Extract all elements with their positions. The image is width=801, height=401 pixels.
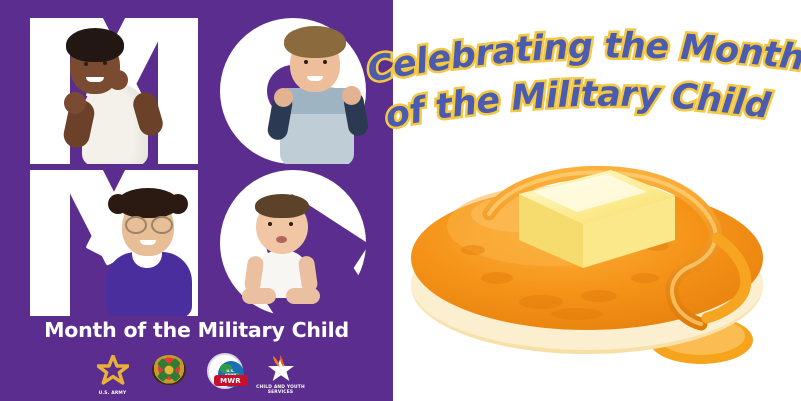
momc-letter-m-top — [30, 18, 198, 164]
star-icon — [97, 355, 129, 385]
swoosh-star-icon — [264, 354, 298, 384]
momc-logo — [30, 18, 370, 318]
child-photo-boy-white-tshirt — [48, 22, 180, 164]
globe-icon: U.S. ARMY MWR — [207, 353, 243, 389]
partner-logos: U.S. ARMY U. — [0, 352, 393, 396]
mwr-band-text: MWR — [220, 377, 241, 385]
momc-letter-o — [220, 18, 370, 164]
momc-pancake-banner: Month of the Military Child U.S. ARMY — [0, 0, 801, 401]
tagline: Month of the Military Child — [0, 318, 393, 342]
momc-row-bottom — [30, 170, 370, 316]
us-army-caption: U.S. ARMY — [83, 391, 143, 396]
pancake-svg — [401, 118, 801, 393]
momc-letter-c — [220, 170, 370, 316]
child-photo-girl-purple-shirt — [96, 180, 198, 316]
child-photo-boy-grey-tshirt — [264, 22, 370, 164]
pancake-illustration — [401, 118, 801, 393]
right-white-panel: Celebrating the Month of the Military Ch… — [393, 0, 801, 401]
cys-caption: CHILD AND YOUTH SERVICES — [251, 385, 311, 395]
child-and-youth-services-logo: CHILD AND YOUTH SERVICES — [259, 352, 303, 396]
mwr-band: MWR — [214, 375, 248, 386]
seal-icon — [152, 355, 186, 385]
us-army-star-logo: U.S. ARMY — [91, 352, 135, 396]
army-mwr-logo: U.S. ARMY MWR — [203, 352, 247, 396]
momc-letter-m-bottom — [30, 170, 198, 316]
child-photo-baby-onesie — [234, 192, 326, 312]
army-seal-logo — [147, 352, 191, 396]
momc-row-top — [30, 18, 370, 164]
left-purple-panel: Month of the Military Child U.S. ARMY — [0, 0, 393, 401]
